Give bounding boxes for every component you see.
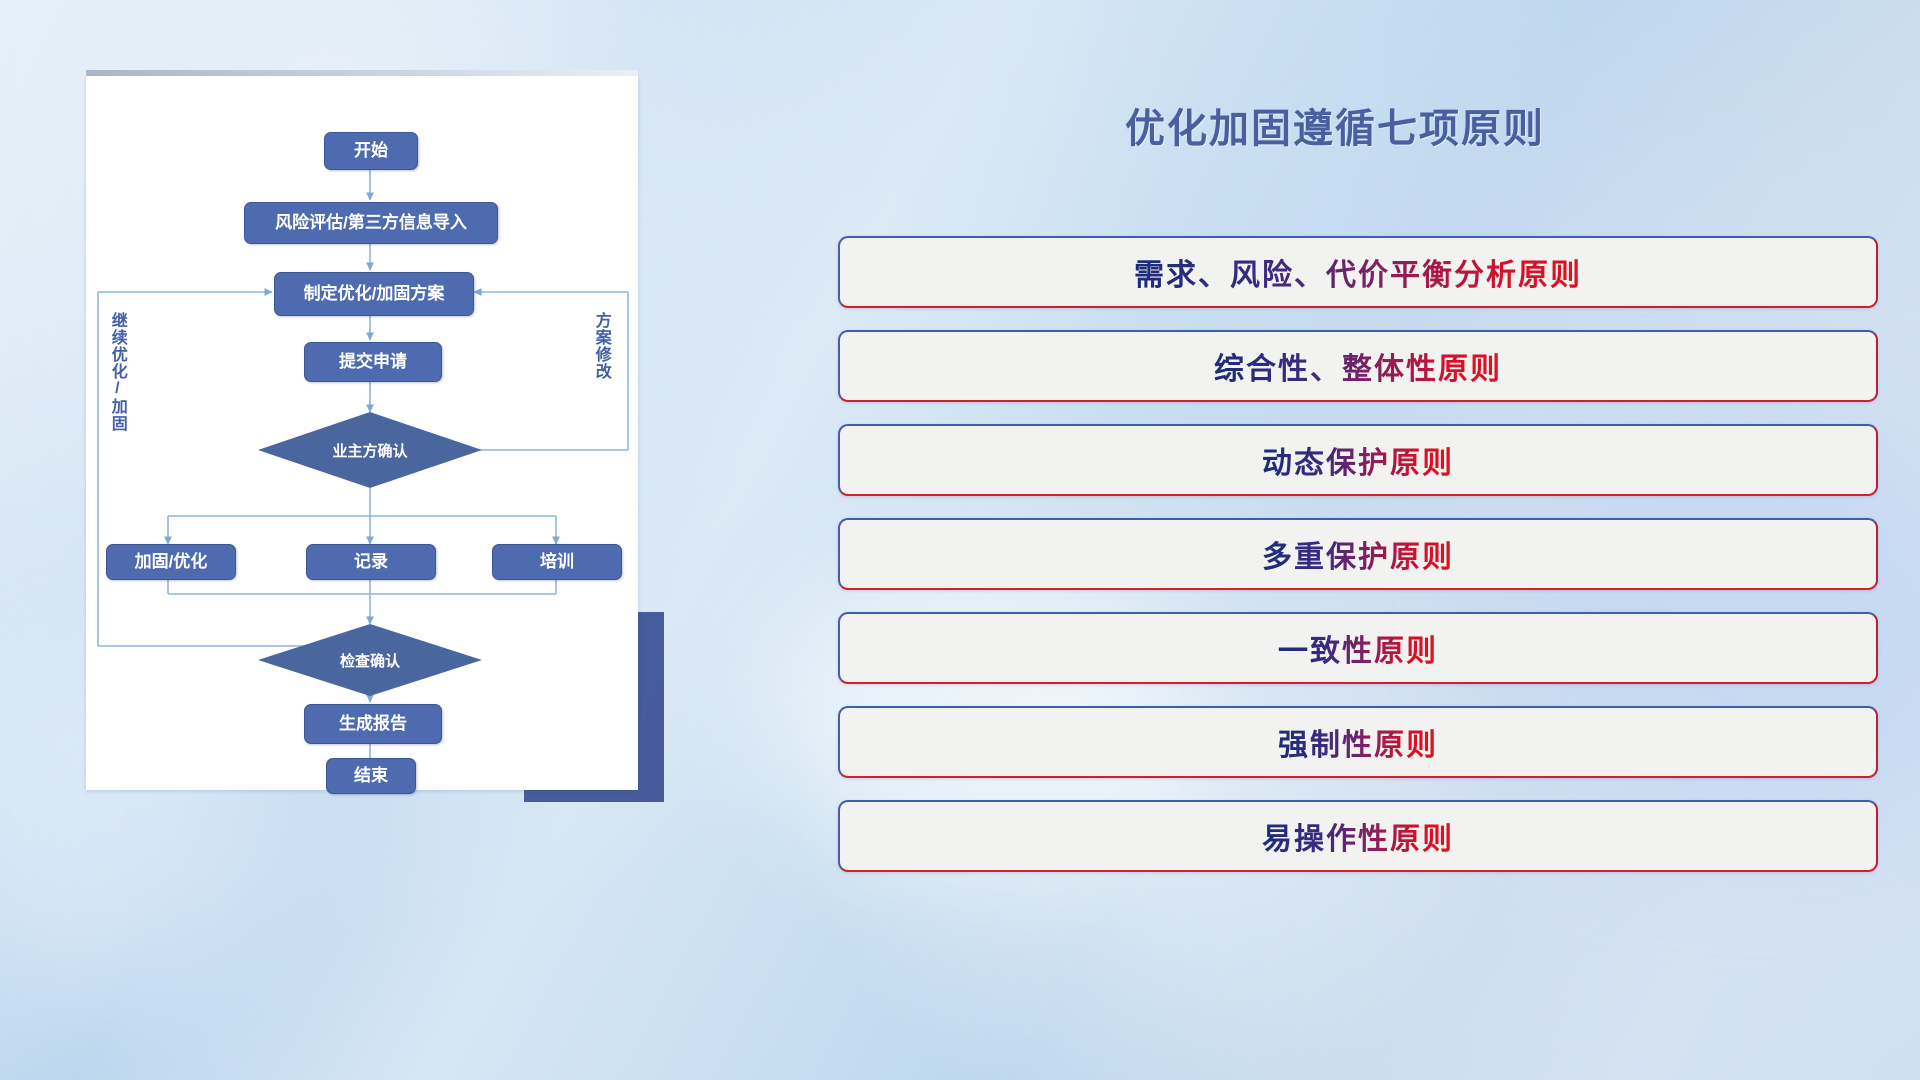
principle-label: 易操作性原则: [1262, 814, 1454, 858]
principles-panel: 优化加固遵循七项原则 需求、风险、代价平衡分析原则 综合性、整体性原则 动态保护…: [820, 0, 1920, 1080]
flow-node-label: 记录: [354, 553, 388, 572]
slide-canvas: 开始 风险评估/第三方信息导入 制定优化/加固方案 提交申请 业主方确认 加固/…: [0, 0, 1920, 1080]
principle-label: 动态保护原则: [1262, 438, 1454, 482]
principle-item-1[interactable]: 需求、风险、代价平衡分析原则: [838, 236, 1878, 308]
principle-item-6[interactable]: 强制性原则: [838, 706, 1878, 778]
principles-list: 需求、风险、代价平衡分析原则 综合性、整体性原则 动态保护原则 多重保护原则 一…: [838, 236, 1878, 894]
flow-node-label: 制定优化/加固方案: [304, 285, 445, 304]
flow-node-start[interactable]: 开始: [324, 132, 418, 170]
principle-label: 综合性、整体性原则: [1214, 344, 1502, 388]
flow-node-label: 生成报告: [339, 715, 407, 734]
flow-node-label: 业主方确认: [332, 440, 407, 461]
page-title: 优化加固遵循七项原则: [820, 96, 1850, 154]
principle-item-4[interactable]: 多重保护原则: [838, 518, 1878, 590]
principle-label: 多重保护原则: [1262, 532, 1454, 576]
flow-node-reinforce-optimize[interactable]: 加固/优化: [106, 544, 236, 580]
flow-node-submit-application[interactable]: 提交申请: [304, 342, 442, 382]
flow-node-end[interactable]: 结束: [326, 758, 416, 794]
flow-node-label: 风险评估/第三方信息导入: [275, 214, 467, 233]
flow-edge-label-continue-optimize: 继续优化/加固: [108, 312, 125, 432]
flow-node-label: 加固/优化: [135, 553, 208, 572]
flow-node-label: 结束: [354, 767, 388, 786]
flow-node-generate-report[interactable]: 生成报告: [304, 704, 442, 744]
flowchart-card: 开始 风险评估/第三方信息导入 制定优化/加固方案 提交申请 业主方确认 加固/…: [86, 76, 638, 790]
flow-node-make-plan[interactable]: 制定优化/加固方案: [274, 272, 474, 316]
flow-node-label: 提交申请: [339, 353, 407, 372]
principle-item-2[interactable]: 综合性、整体性原则: [838, 330, 1878, 402]
flow-node-training[interactable]: 培训: [492, 544, 622, 580]
flow-edge-label-plan-revision: 方案修改: [592, 312, 609, 380]
principle-item-5[interactable]: 一致性原则: [838, 612, 1878, 684]
flow-node-risk-assessment[interactable]: 风险评估/第三方信息导入: [244, 202, 498, 244]
principle-label: 需求、风险、代价平衡分析原则: [1134, 250, 1582, 294]
principle-label: 一致性原则: [1278, 626, 1438, 670]
flow-node-record[interactable]: 记录: [306, 544, 436, 580]
principle-item-7[interactable]: 易操作性原则: [838, 800, 1878, 872]
flow-node-label: 培训: [540, 553, 574, 572]
principle-item-3[interactable]: 动态保护原则: [838, 424, 1878, 496]
flow-node-label: 检查确认: [340, 650, 400, 671]
principle-label: 强制性原则: [1278, 720, 1438, 764]
flow-node-label: 开始: [354, 142, 388, 161]
